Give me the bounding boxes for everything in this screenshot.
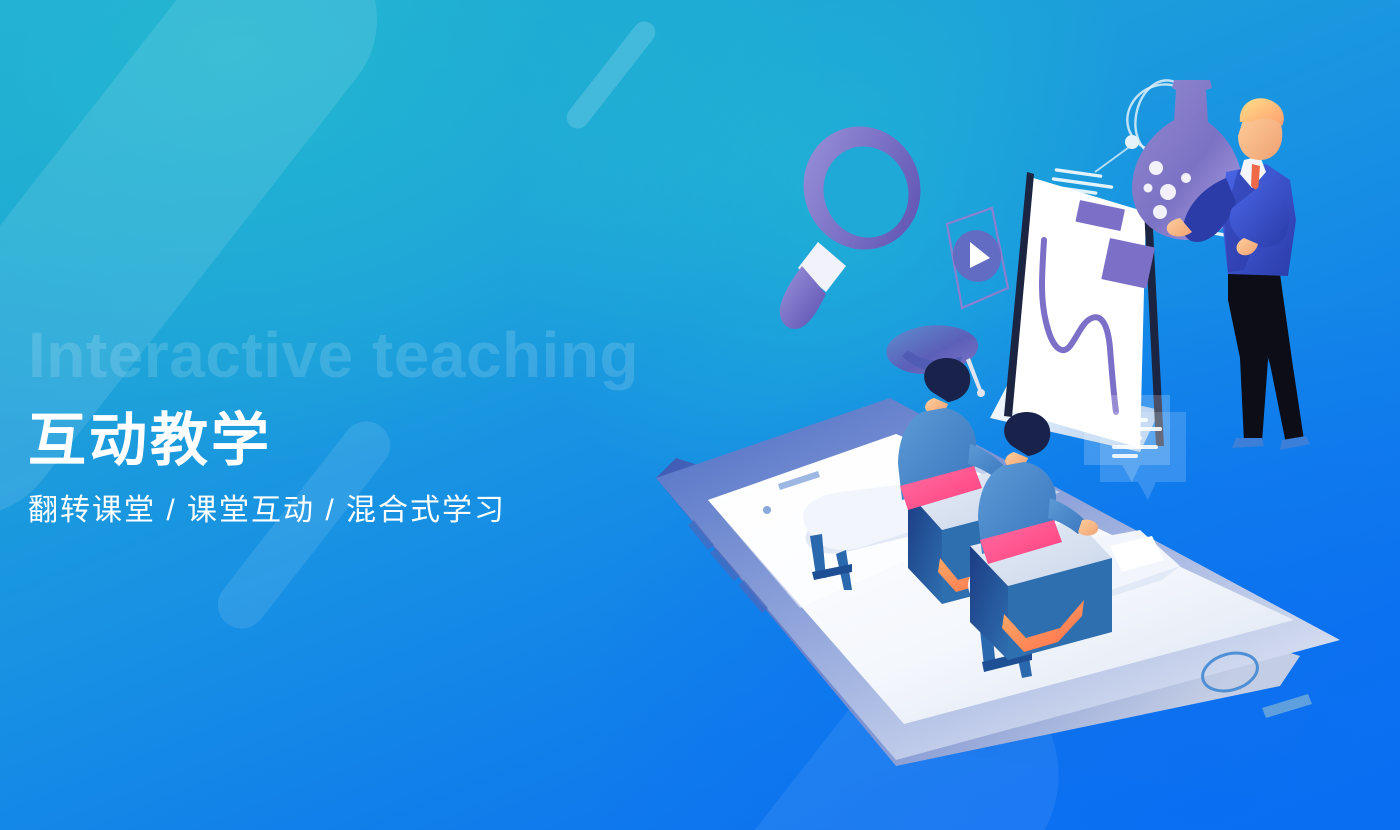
headline-block: Interactive teaching 互动教学 翻转课堂 / 课堂互动 / … [28,318,639,530]
illustration [640,60,1400,830]
ghost-title: Interactive teaching [28,318,639,392]
interactive-teaching-banner: Interactive teaching 互动教学 翻转课堂 / 课堂互动 / … [0,0,1400,830]
chat-bubble-icon [1084,395,1186,500]
page-subtitle: 翻转课堂 / 课堂互动 / 混合式学习 [28,492,639,530]
magnifier-icon [780,110,938,329]
video-play-icon [947,208,1008,308]
page-title: 互动教学 [28,408,639,474]
